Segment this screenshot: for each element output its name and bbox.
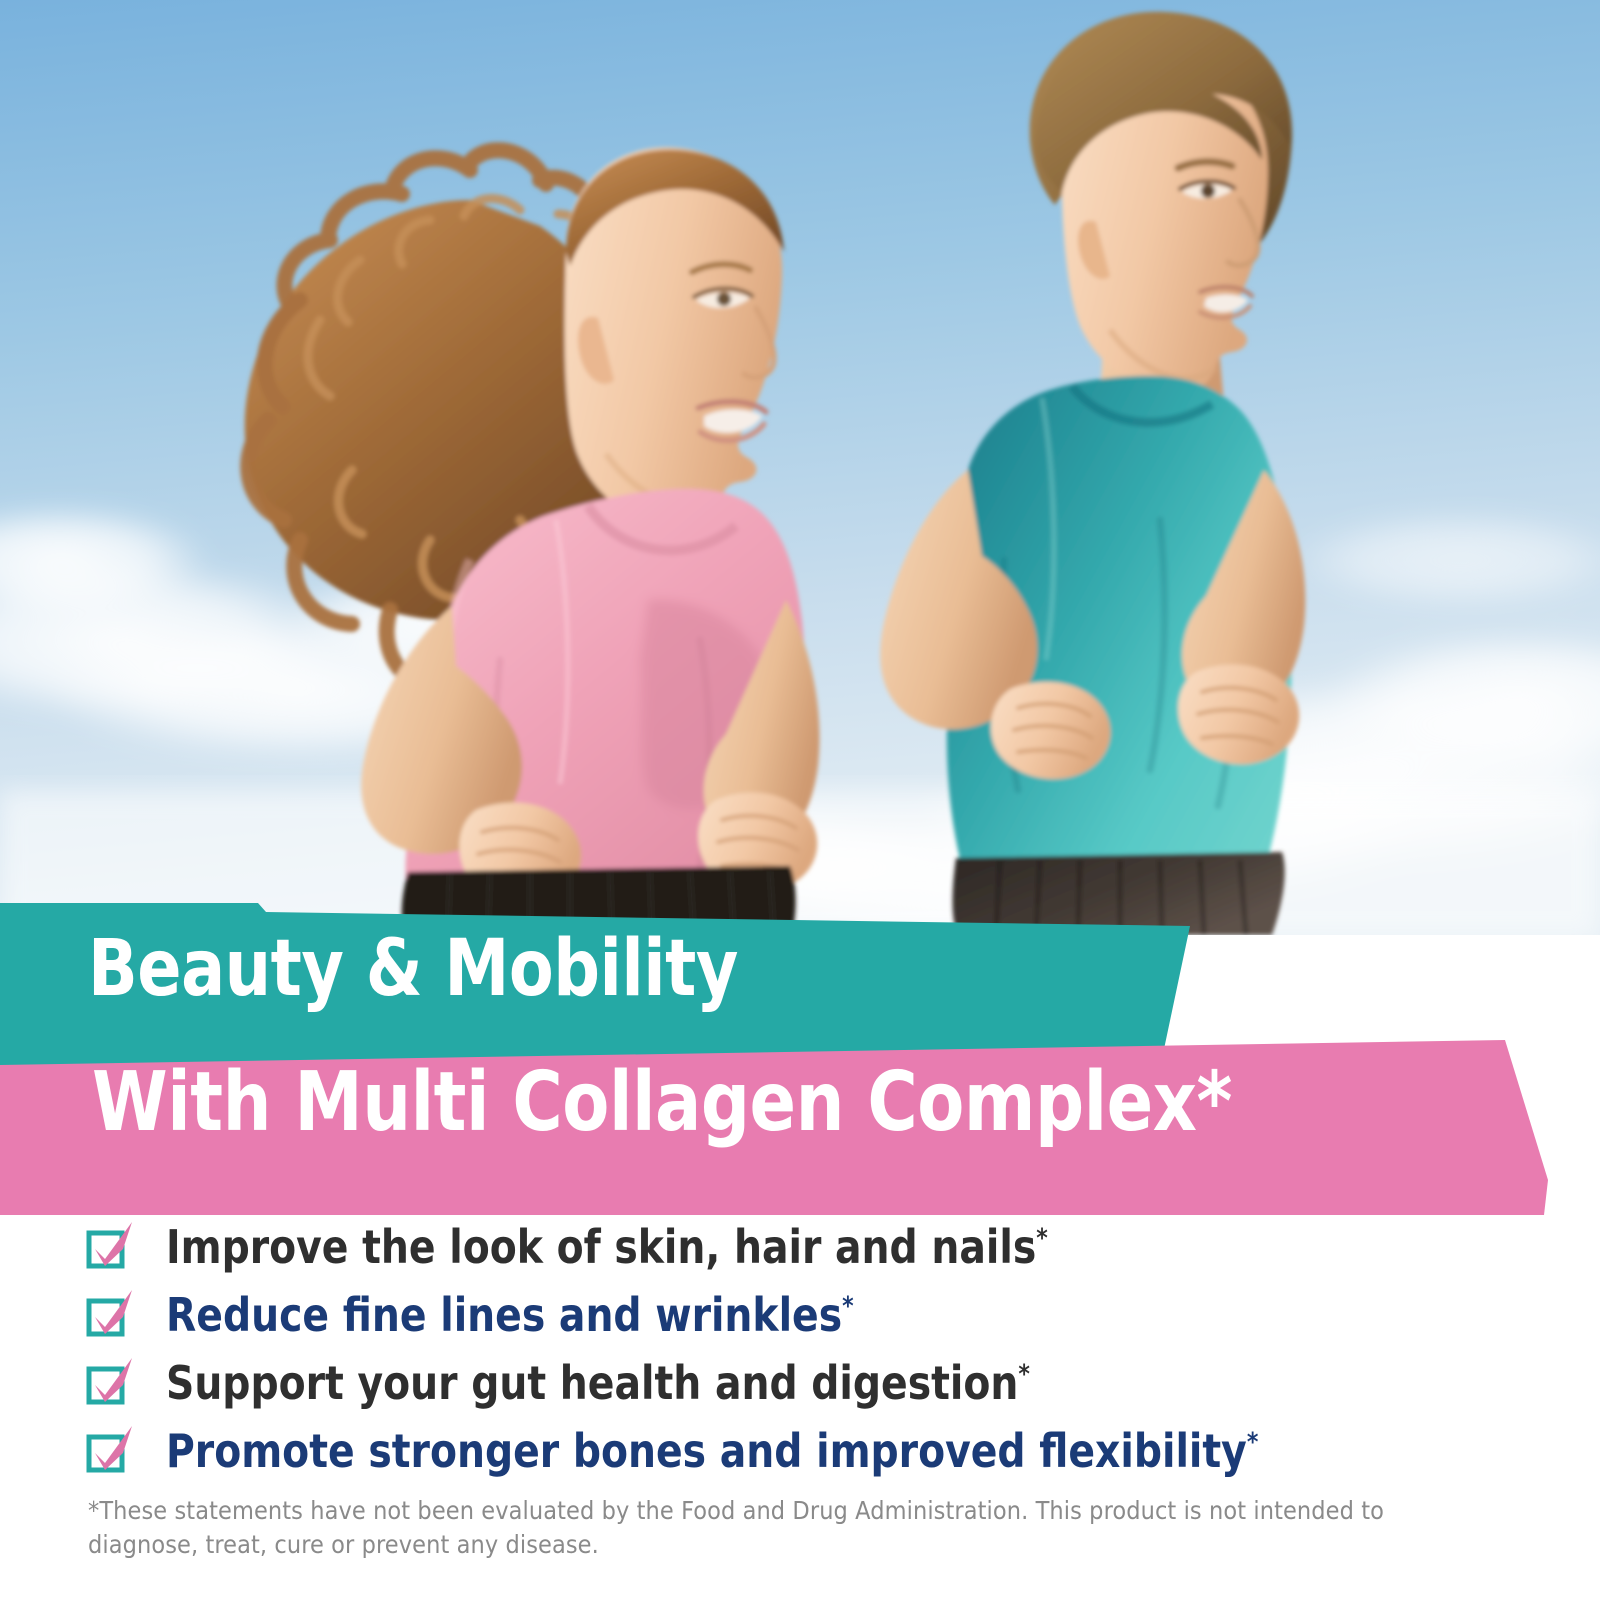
hero-photo xyxy=(0,0,1600,935)
benefit-item-2: Reduce fine lines and wrinkles* xyxy=(0,1281,1600,1349)
checkmark-box-icon xyxy=(84,1219,136,1271)
benefits-list: Improve the look of skin, hair and nails… xyxy=(0,1213,1600,1485)
benefit-item-1: Improve the look of skin, hair and nails… xyxy=(0,1213,1600,1281)
fda-disclaimer: *These statements have not been evaluate… xyxy=(88,1494,1458,1562)
benefit-label: Support your gut health and digestion* xyxy=(166,1358,1030,1408)
benefit-label: Improve the look of skin, hair and nails… xyxy=(166,1222,1048,1272)
benefit-item-4: Promote stronger bones and improved flex… xyxy=(0,1417,1600,1485)
headline-line-2: With Multi Collagen Complex* xyxy=(92,1059,1232,1147)
headline-line-1: Beauty & Mobility xyxy=(88,927,738,1011)
benefit-label: Reduce fine lines and wrinkles* xyxy=(166,1290,854,1340)
benefit-label: Promote stronger bones and improved flex… xyxy=(166,1426,1258,1476)
checkmark-box-icon xyxy=(84,1423,136,1475)
marketing-banner-page: Beauty & Mobility With Multi Collagen Co… xyxy=(0,0,1600,1600)
checkmark-box-icon xyxy=(84,1355,136,1407)
checkmark-box-icon xyxy=(84,1287,136,1339)
benefit-item-3: Support your gut health and digestion* xyxy=(0,1349,1600,1417)
